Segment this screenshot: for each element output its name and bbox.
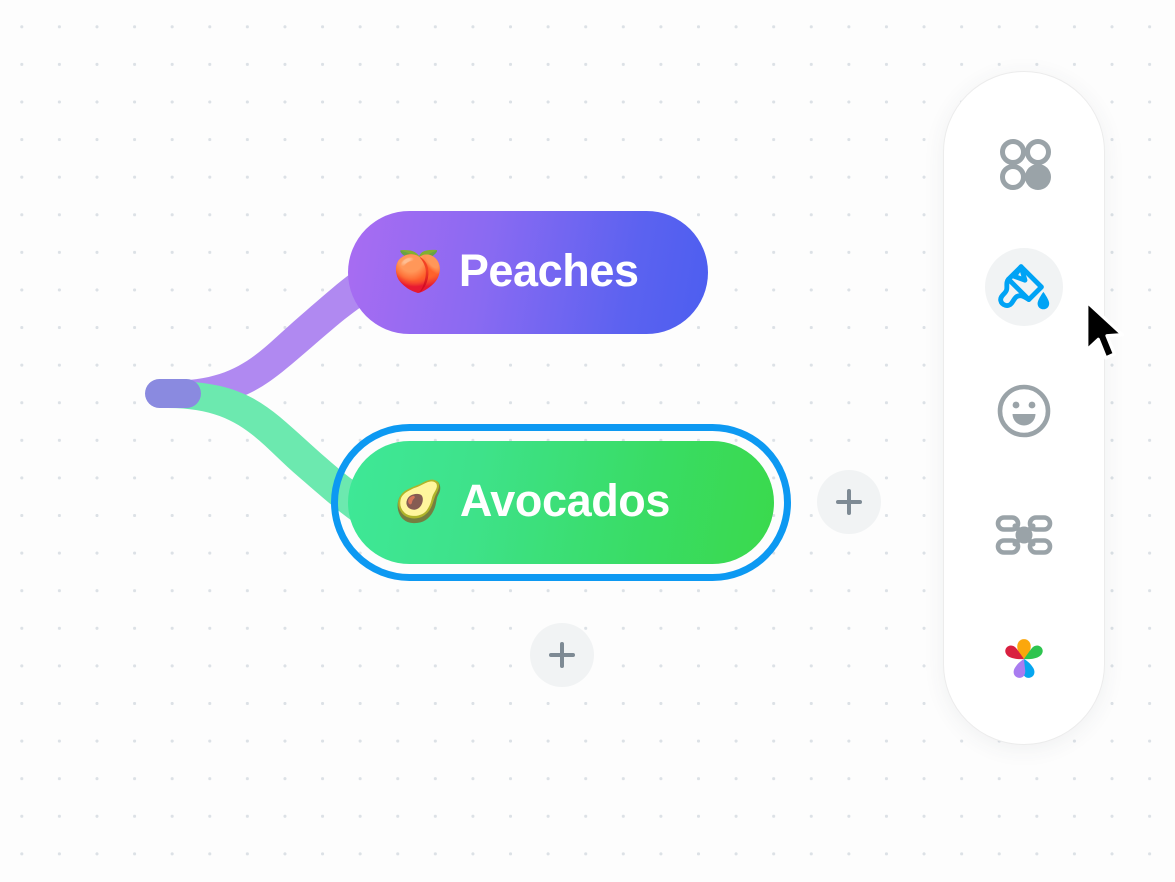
peach-emoji: 🍑 [393, 252, 443, 292]
mindmap-node-avocados[interactable]: 🥑 Avocados [348, 441, 774, 564]
mindmap-node-label: Peaches [459, 248, 639, 293]
smiley-face-icon [993, 380, 1055, 442]
plus-icon-vertical [847, 489, 852, 515]
plus-icon-vertical [560, 642, 565, 668]
toolbar-item-emoji[interactable] [985, 372, 1063, 450]
mind-map-nodes-icon [993, 504, 1055, 566]
toolbar-item-structure[interactable] [985, 496, 1063, 574]
side-toolbar[interactable] [943, 71, 1105, 745]
mindmap-node-peaches[interactable]: 🍑 Peaches [348, 211, 708, 334]
four-circles-grid-icon [993, 132, 1055, 194]
paint-brush-icon [993, 256, 1055, 318]
toolbar-item-theme[interactable] [985, 620, 1063, 698]
root-connector-stub [145, 379, 201, 408]
mindmap-node-label: Avocados [460, 478, 670, 523]
avocado-emoji: 🥑 [394, 482, 444, 522]
add-child-node-button[interactable] [817, 470, 881, 534]
mindmap-node-avocados-wrapper[interactable]: 🥑 Avocados [331, 424, 791, 581]
toolbar-item-style[interactable] [985, 248, 1063, 326]
add-sibling-node-button[interactable] [530, 623, 594, 687]
flower-petals-logo-icon [996, 631, 1052, 687]
mindmap-canvas[interactable]: 🍑 Peaches 🥑 Avocados [0, 0, 1175, 882]
toolbar-item-layout[interactable] [985, 124, 1063, 202]
